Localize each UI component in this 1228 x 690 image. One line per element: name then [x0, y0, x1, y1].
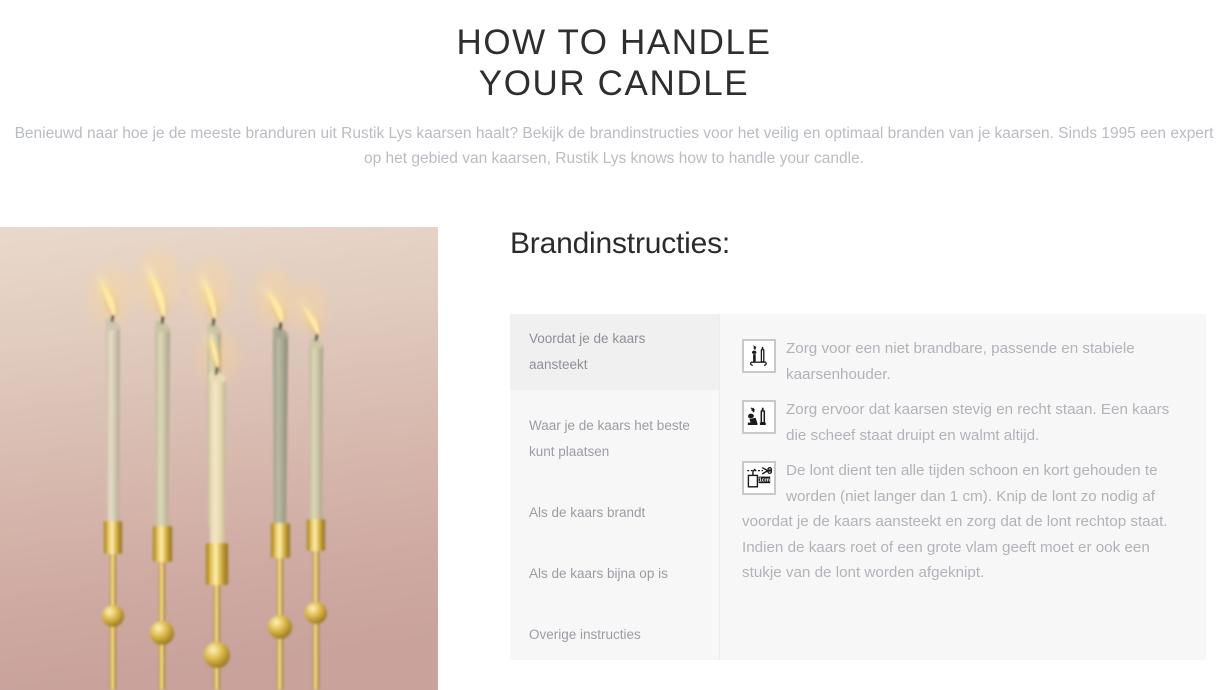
instruction-item: Zorg ervoor dat kaarsen stevig en recht …	[742, 397, 1184, 448]
page-title-line-2: YOUR CANDLE	[0, 63, 1228, 104]
instructions-tabs-panel: Voordat je de kaars aansteekt Waar je de…	[510, 314, 1206, 660]
instructions-column: Brandinstructies: Voordat je de kaars aa…	[510, 227, 1206, 660]
page-root: HOW TO HANDLE YOUR CANDLE Benieuwd naar …	[0, 0, 1228, 690]
tab-overige-instructies[interactable]: Overige instructies	[510, 610, 719, 660]
main-content: Brandinstructies: Voordat je de kaars aa…	[0, 227, 1228, 690]
trim-wick-scissors-icon: 1cm	[742, 461, 776, 495]
tab-panel-content: Zorg voor een niet brandbare, passende e…	[720, 314, 1206, 660]
hero-section: HOW TO HANDLE YOUR CANDLE Benieuwd naar …	[0, 0, 1228, 171]
instruction-item: Zorg voor een niet brandbare, passende e…	[742, 336, 1184, 387]
hero-subtitle: Benieuwd naar hoe je de meeste branduren…	[11, 121, 1217, 171]
tab-spacer	[510, 538, 719, 549]
tab-spacer	[510, 599, 719, 610]
page-title: HOW TO HANDLE YOUR CANDLE	[0, 22, 1228, 104]
instruction-text: Zorg voor een niet brandbare, passende e…	[786, 340, 1135, 383]
tab-spacer	[510, 390, 719, 401]
instruction-text: Zorg ervoor dat kaarsen stevig en recht …	[786, 401, 1169, 444]
tab-als-de-kaars-bijna-op-is[interactable]: Als de kaars bijna op is	[510, 549, 719, 599]
instruction-text: De lont dient ten alle tijden schoon en …	[742, 462, 1168, 581]
page-title-line-1: HOW TO HANDLE	[456, 23, 771, 62]
instruction-item: 1cm De lont dient ten alle tijden schoon…	[742, 458, 1184, 586]
trim-length-label: 1cm	[759, 478, 770, 484]
candle-holder-stable-icon	[742, 339, 776, 373]
tab-als-de-kaars-brandt[interactable]: Als de kaars brandt	[510, 488, 719, 538]
section-title: Brandinstructies:	[510, 227, 1206, 261]
candle-upright-icon	[742, 400, 776, 434]
tab-list: Voordat je de kaars aansteekt Waar je de…	[510, 314, 720, 660]
tab-waar-je-de-kaars-het-beste-kunt-plaatsen[interactable]: Waar je de kaars het beste kunt plaatsen	[510, 401, 719, 477]
tab-voordat-je-de-kaars-aansteekt[interactable]: Voordat je de kaars aansteekt	[510, 314, 719, 390]
tab-spacer	[510, 477, 719, 488]
candle-photo	[0, 227, 438, 690]
